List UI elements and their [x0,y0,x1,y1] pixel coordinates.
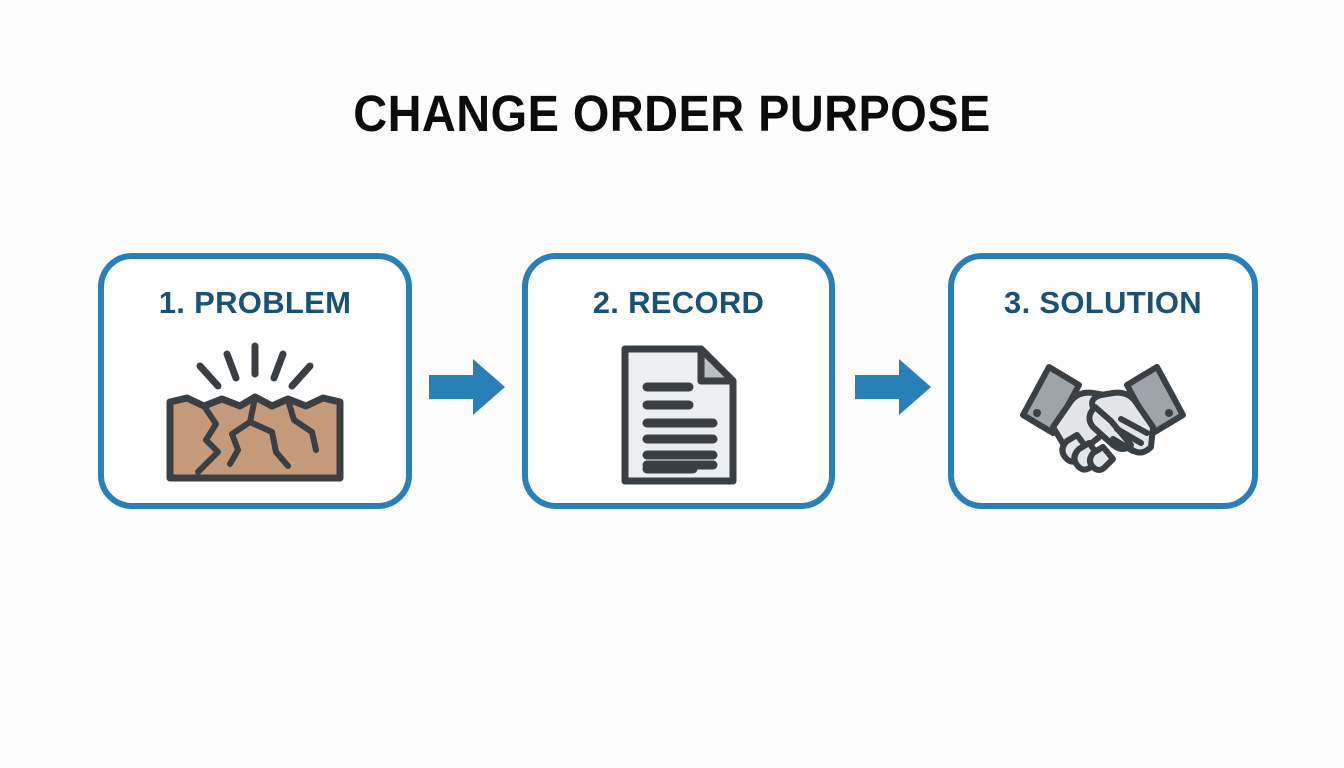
cracked-ground-icon [160,340,350,490]
step-icon-slot-record [528,337,829,493]
step-icon-slot-solution [954,337,1252,493]
page-fold [701,349,733,381]
page-title: CHANGE ORDER PURPOSE [54,84,1290,143]
document-icon [619,343,739,487]
step-label-problem: 1. PROBLEM [104,285,406,321]
step-card-solution[interactable]: 3. SOLUTION [948,253,1258,509]
slide-canvas: CHANGE ORDER PURPOSE 1. PROBLEM [0,0,1344,768]
step-icon-slot-problem [104,337,406,493]
step-card-problem[interactable]: 1. PROBLEM [98,253,412,509]
step-label-solution: 3. SOLUTION [954,285,1252,321]
step-card-record[interactable]: 2. RECORD [522,253,835,509]
process-flow: 1. PROBLEM [98,253,1258,509]
arrow-1-icon [429,359,505,415]
step-label-record: 2. RECORD [528,285,829,321]
handshake-icon [1013,355,1193,475]
arrow-2-icon [855,359,931,415]
